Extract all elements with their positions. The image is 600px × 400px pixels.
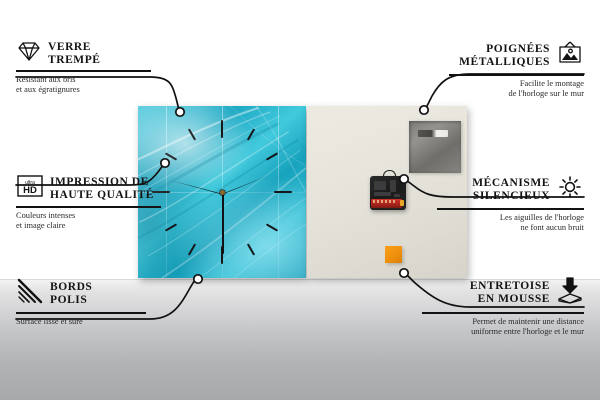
battery <box>371 199 402 208</box>
battery-label <box>373 200 395 203</box>
callout-title: ENTRETOISE EN MOUSSE <box>470 280 550 305</box>
callout-description-line2: et aux égratignures <box>16 85 151 95</box>
callout-divider <box>16 206 161 208</box>
metal-hanger-plate[interactable] <box>409 121 461 173</box>
callout-description-line1: Surface lisse et sûre <box>16 317 146 327</box>
gear-icon <box>556 174 584 205</box>
clock-center-hub <box>220 190 225 195</box>
clock-tick-3 <box>274 191 292 193</box>
callout-description-line2: uniforme entre l'horloge et le mur <box>422 327 584 337</box>
callout-mecanisme-silencieux[interactable]: MÉCANISME SILENCIEUX Les aiguilles de l'… <box>437 174 584 233</box>
hanger-slot <box>418 130 448 137</box>
callout-title: MÉCANISME SILENCIEUX <box>472 177 550 202</box>
callout-bords-polis[interactable]: BORDS POLIS Surface lisse et sûre <box>16 278 146 327</box>
picture-hanger-icon <box>556 40 584 71</box>
callout-description-line2: de l'horloge sur le mur <box>449 89 584 99</box>
callout-verre-trempe[interactable]: VERRE TREMPÉ Résistant aux bris et aux é… <box>16 40 151 95</box>
clock-tick-12 <box>221 120 223 138</box>
svg-text:HD: HD <box>23 185 37 196</box>
callout-poignees-metalliques[interactable]: POIGNÉES MÉTALLIQUES Facilite le montage… <box>449 40 584 99</box>
callout-description-line1: Résistant aux bris <box>16 75 151 85</box>
battery-positive-terminal <box>400 200 404 206</box>
callout-divider <box>437 208 584 210</box>
callout-divider <box>422 312 584 314</box>
mechanism-detail-3 <box>374 192 391 196</box>
clock-second-hand <box>222 192 224 254</box>
callout-title: VERRE TREMPÉ <box>48 41 101 66</box>
callout-entretoise-en-mousse[interactable]: ENTRETOISE EN MOUSSE Permet de maintenir… <box>422 276 584 337</box>
callout-impression-haute-qualite[interactable]: ultra HD IMPRESSION DE HAUTE QUALITÉ Cou… <box>16 174 161 231</box>
callout-description-line1: Les aiguilles de l'horloge <box>437 213 584 223</box>
callout-header: BORDS POLIS <box>16 278 146 309</box>
mechanism-detail-4 <box>394 194 400 197</box>
callout-header: MÉCANISME SILENCIEUX <box>437 174 584 205</box>
callout-description-line2: ne font aucun bruit <box>437 223 584 233</box>
mechanism-detail-2 <box>390 180 396 192</box>
callout-divider <box>16 312 146 314</box>
callout-description-line2: et image claire <box>16 221 161 231</box>
foam-spacer-icon <box>556 276 584 309</box>
infographic-canvas: VERRE TREMPÉ Résistant aux bris et aux é… <box>0 0 600 400</box>
callout-title: IMPRESSION DE HAUTE QUALITÉ <box>50 176 154 201</box>
clock-mechanism-housing[interactable] <box>370 176 406 210</box>
clock-front-view[interactable] <box>138 106 306 278</box>
callout-header: POIGNÉES MÉTALLIQUES <box>449 40 584 71</box>
callout-header: VERRE TREMPÉ <box>16 40 151 67</box>
foam-spacer[interactable] <box>385 246 402 263</box>
mechanism-detail-1 <box>374 181 386 190</box>
polished-edges-icon <box>16 278 44 309</box>
callout-description-line1: Permet de maintenir une distance <box>422 317 584 327</box>
callout-description-line1: Facilite le montage <box>449 79 584 89</box>
callout-title: BORDS POLIS <box>50 281 92 306</box>
callout-header: ENTRETOISE EN MOUSSE <box>422 276 584 309</box>
diamond-icon <box>16 40 42 67</box>
callout-header: ultra HD IMPRESSION DE HAUTE QUALITÉ <box>16 174 161 203</box>
callout-divider <box>449 74 584 76</box>
ultra-hd-icon: ultra HD <box>16 174 44 203</box>
callout-description-line1: Couleurs intenses <box>16 211 161 221</box>
callout-divider <box>16 70 151 72</box>
callout-title: POIGNÉES MÉTALLIQUES <box>459 43 550 68</box>
